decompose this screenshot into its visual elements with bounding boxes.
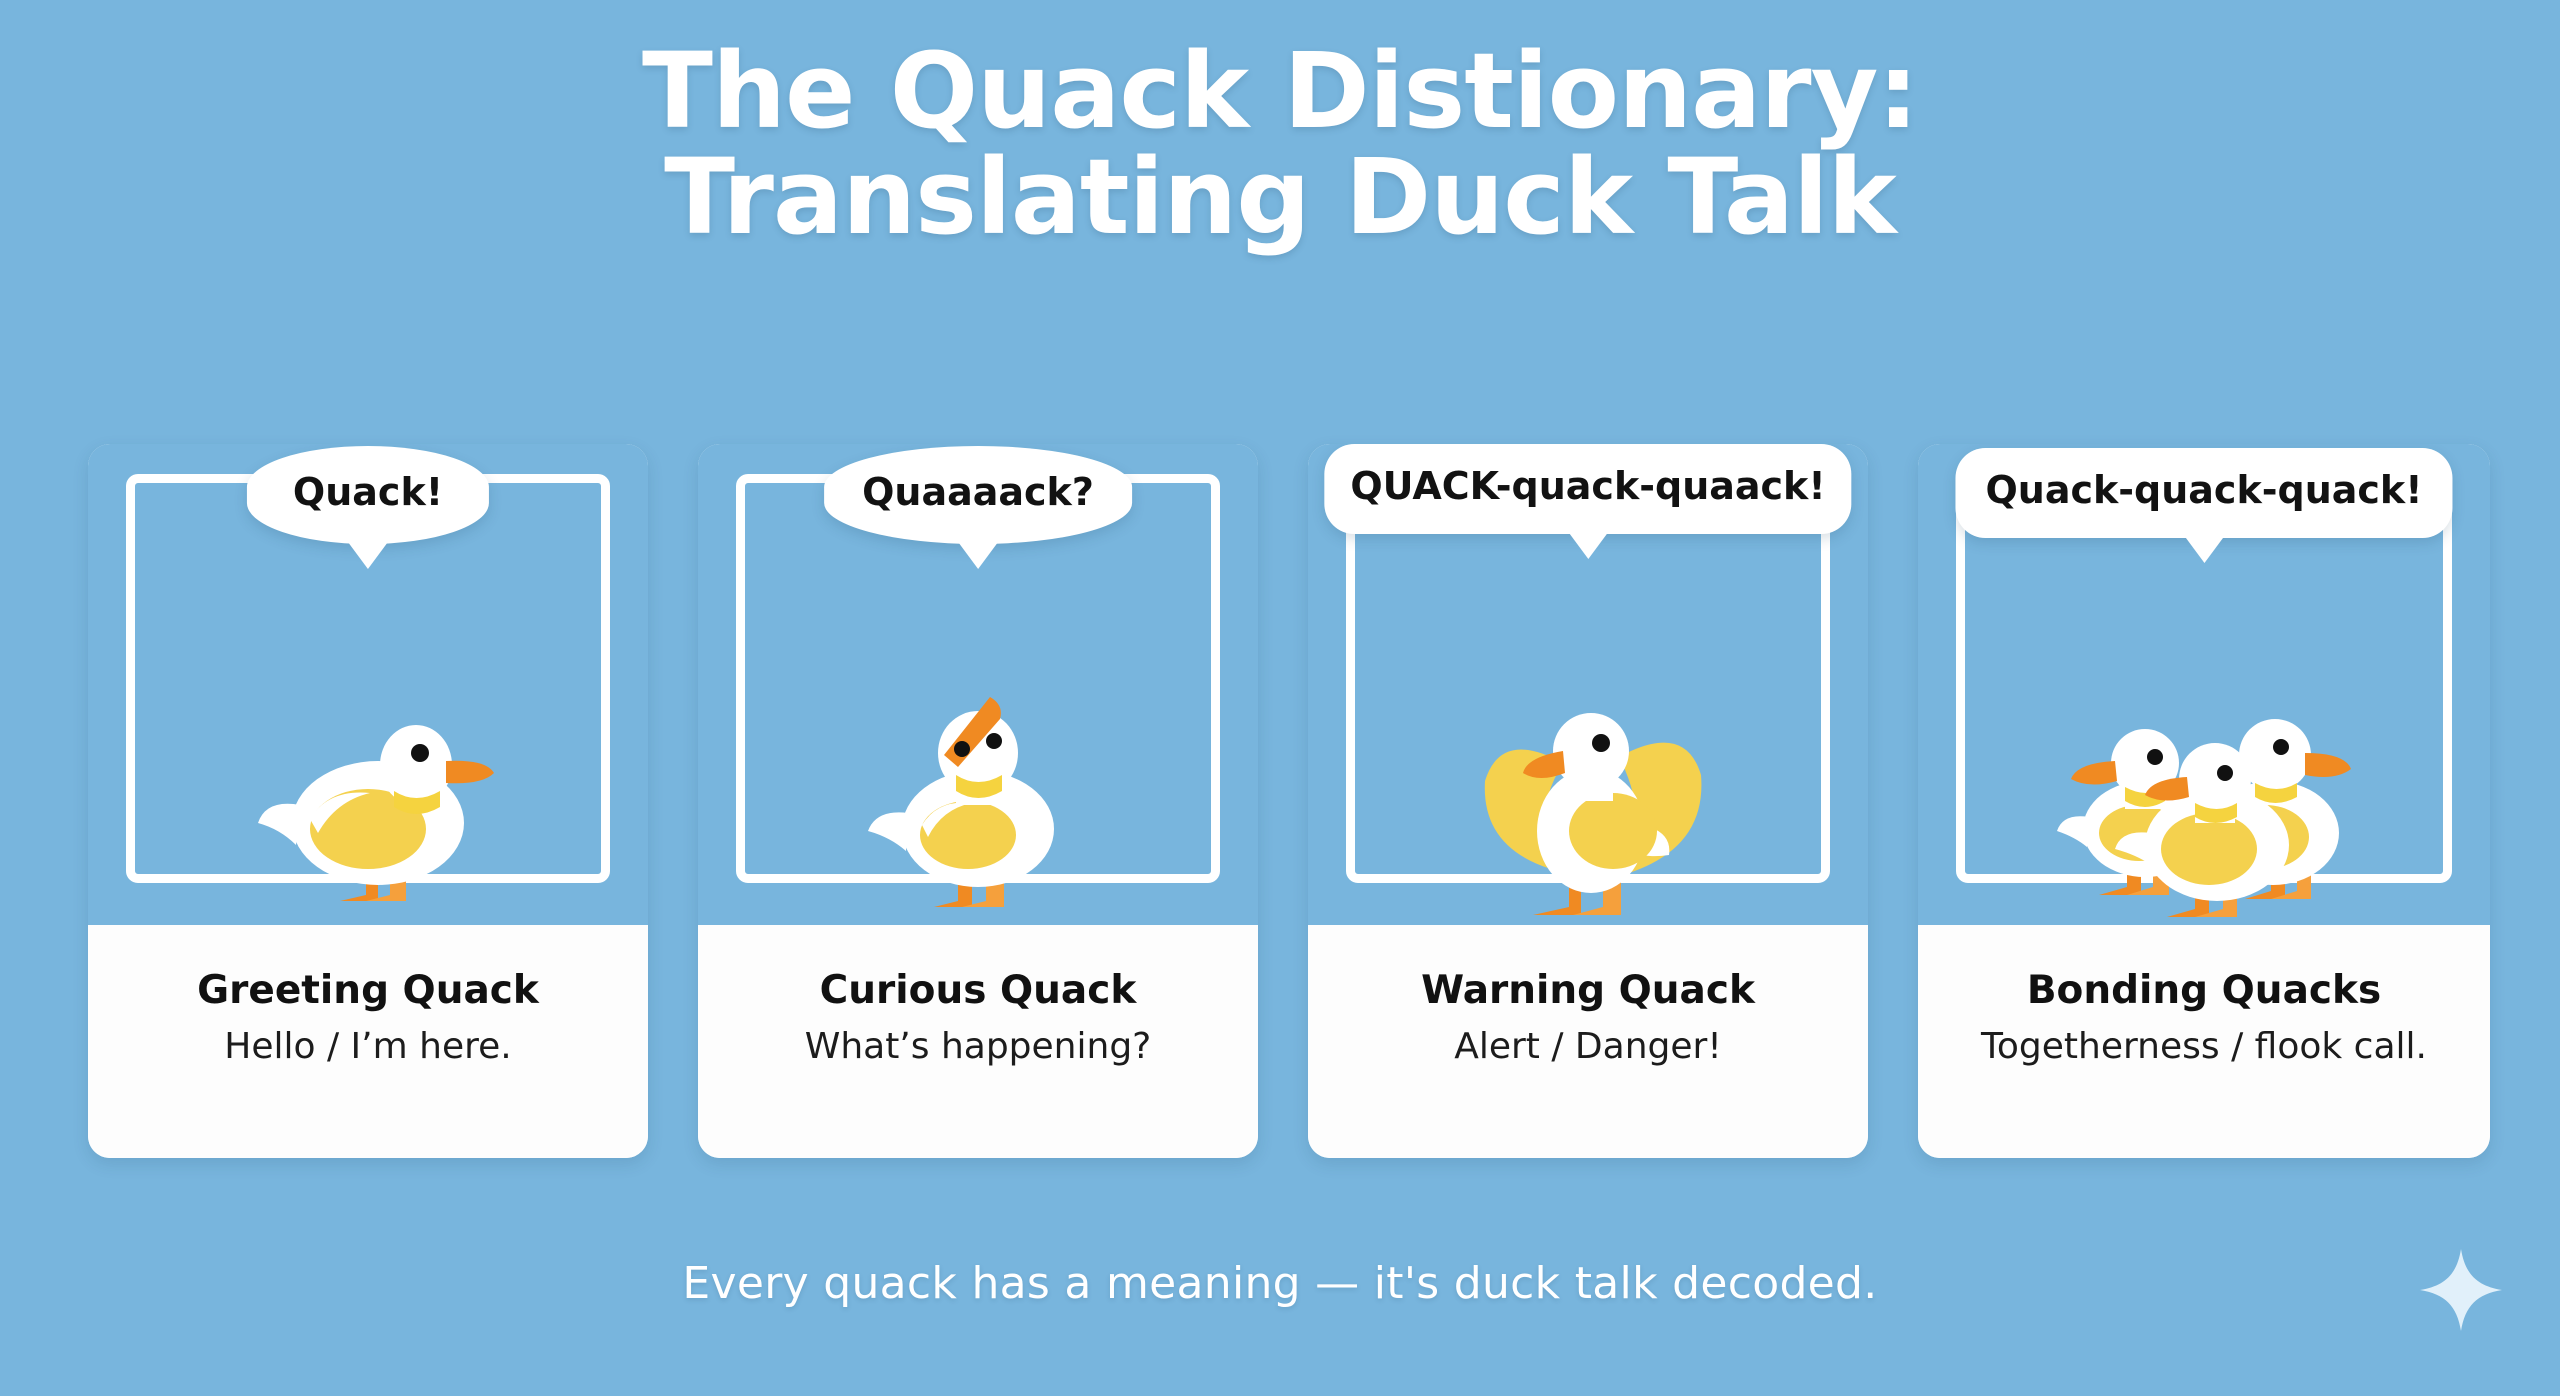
speech-bubble: Quaaaack? xyxy=(824,446,1132,544)
card-title: Greeting Quack xyxy=(88,967,648,1016)
card-meaning: Togetherness / flook call. xyxy=(1918,1024,2490,1071)
card-title: Curious Quack xyxy=(698,967,1258,1016)
page-title: The Quack Distionary: Translating Duck T… xyxy=(0,38,2560,250)
card-art-area: QUACK-quack-quaack! xyxy=(1308,444,1868,925)
card-caption: Curious Quack What’s happening? xyxy=(698,925,1258,1158)
sparkle-four-point-icon xyxy=(2418,1247,2504,1333)
duck-illustration-flock xyxy=(1918,603,2490,933)
duck-illustration-greeting xyxy=(88,603,648,933)
duck-wing-icon xyxy=(1569,793,1657,869)
card-title: Warning Quack xyxy=(1308,967,1868,1016)
duck-illustration-warning xyxy=(1308,603,1868,933)
quack-card-greeting[interactable]: Quack! xyxy=(88,444,648,1158)
quack-card-warning[interactable]: QUACK-quack-quaack! xyxy=(1308,444,1868,1158)
card-caption: Greeting Quack Hello / I’m here. xyxy=(88,925,648,1158)
duck-eye-icon xyxy=(954,741,970,757)
card-meaning: Hello / I’m here. xyxy=(88,1024,648,1071)
quack-card-curious[interactable]: Quaaaack? xyxy=(698,444,1258,1158)
footer-tagline: Every quack has a meaning — it's duck ta… xyxy=(0,1258,2560,1309)
duck-illustration-curious xyxy=(698,603,1258,933)
duck-tail-icon xyxy=(258,804,300,845)
title-line-1: The Quack Distionary: xyxy=(0,38,2560,144)
card-art-area: Quack! xyxy=(88,444,648,925)
speech-bubble-text: QUACK-quack-quaack! xyxy=(1350,466,1825,508)
duck-beak-icon xyxy=(446,761,494,784)
footer-text: Every quack has a meaning — it's duck ta… xyxy=(682,1258,1877,1309)
duck-eye-icon xyxy=(1592,734,1610,752)
title-line-2: Translating Duck Talk xyxy=(0,144,2560,250)
speech-bubble-text: Quaaaack? xyxy=(862,472,1094,514)
card-meaning: What’s happening? xyxy=(698,1024,1258,1071)
quack-card-row: Quack! xyxy=(88,444,2472,1158)
speech-bubble-text: Quack-quack-quack! xyxy=(1985,470,2422,512)
duck-head-icon xyxy=(1553,713,1629,789)
duck-eye-icon xyxy=(986,733,1002,749)
speech-bubble-text: Quack! xyxy=(293,472,443,514)
card-caption: Bonding Quacks Togetherness / flook call… xyxy=(1918,925,2490,1158)
card-caption: Warning Quack Alert / Danger! xyxy=(1308,925,1868,1158)
poster-canvas: The Quack Distionary: Translating Duck T… xyxy=(0,0,2560,1396)
quack-card-bonding[interactable]: Quack-quack-quack! xyxy=(1918,444,2490,1158)
card-title: Bonding Quacks xyxy=(1918,967,2490,1016)
speech-bubble: Quack! xyxy=(247,446,489,544)
card-art-area: Quack-quack-quack! xyxy=(1918,444,2490,925)
card-meaning: Alert / Danger! xyxy=(1308,1024,1868,1071)
speech-bubble: QUACK-quack-quaack! xyxy=(1324,444,1851,534)
card-art-area: Quaaaack? xyxy=(698,444,1258,925)
duck-eye-icon xyxy=(411,744,429,762)
speech-bubble: Quack-quack-quack! xyxy=(1955,448,2452,538)
duck-tail-icon xyxy=(868,812,908,851)
